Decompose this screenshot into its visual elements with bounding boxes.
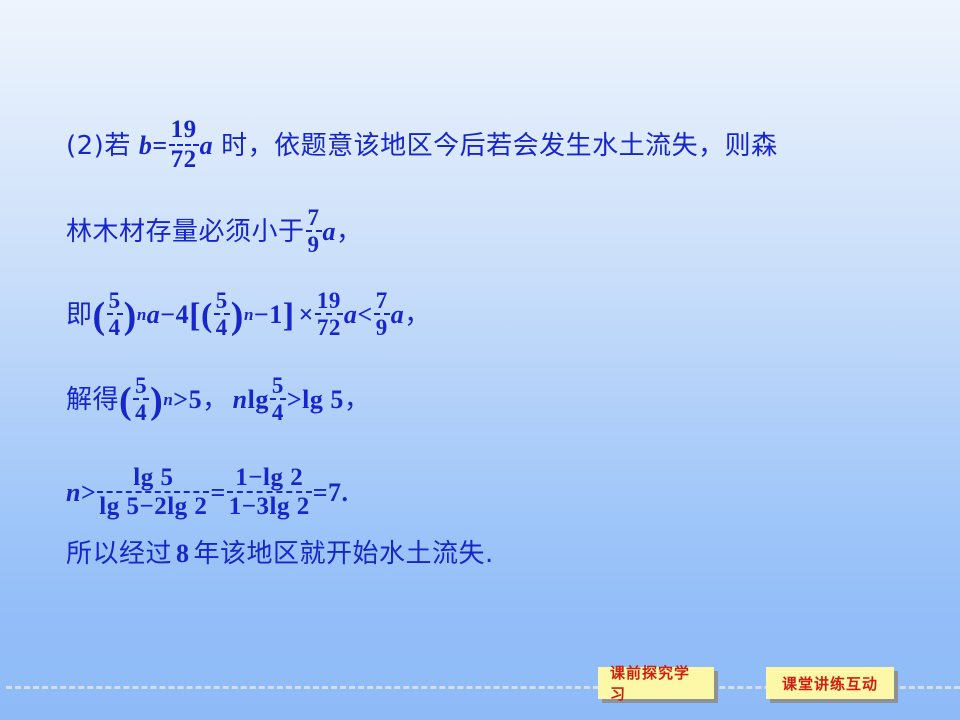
fraction-numerator: 7: [374, 289, 390, 312]
line4-open-paren: (: [119, 390, 132, 413]
fraction-19-over-72: 19 72: [169, 117, 199, 172]
line5-variable-n: n: [66, 480, 81, 506]
nav-button-pre-class-study[interactable]: 课前探究学习: [598, 667, 714, 699]
fraction-denominator: 9: [374, 316, 390, 339]
line5-equals-1: =: [210, 480, 225, 506]
solution-line-1: (2)若 b = 19 72 a 时，依题意该地区今后若会发生水土流失，则森: [66, 118, 926, 173]
line3-lead-text: 即: [66, 302, 93, 328]
fraction-denominator: 4: [107, 316, 123, 339]
line3-bracket-close: ]: [283, 306, 295, 326]
line4-close-paren: ): [150, 390, 163, 413]
fraction-numerator: 19: [315, 289, 343, 312]
fraction-19-over-72-b: 19 72: [315, 289, 343, 340]
line3-coefficient-4: 4: [176, 302, 190, 328]
fraction-numerator: 7: [306, 206, 322, 229]
fraction-denominator: 9: [306, 233, 322, 256]
line1-variable-b: b: [139, 133, 153, 159]
fraction-5-over-4-b: 5 4: [214, 289, 230, 340]
line1-equals: =: [152, 133, 167, 159]
line3-variable-a-1: a: [147, 302, 161, 328]
line5-result-value: 7.: [328, 480, 349, 506]
fraction-numerator: 5: [133, 374, 149, 397]
solution-line-3: 即 ( 5 4 ) n a − 4 [( 5 4 ) n − 1 ] ×: [66, 290, 926, 341]
fraction-numerator: 1−lg 2: [233, 465, 305, 491]
line4-comma-1: ，: [202, 387, 229, 413]
line1-label: (2)若: [66, 133, 131, 159]
line1-tail-text: 时，依题意该地区今后若会发生水土流失，则森: [221, 133, 778, 159]
fraction-numerator: 5: [107, 289, 123, 312]
line2-lead-text: 林木材存量必须小于: [66, 219, 305, 245]
solution-line-2: 林木材存量必须小于 7 9 a ，: [66, 207, 926, 258]
solution-line-6-conclusion: 所以经过 8 年该地区就开始水土流失.: [66, 541, 926, 567]
conclusion-years-value: 8: [176, 541, 190, 567]
line3-variable-a-3: a: [391, 302, 405, 328]
fraction-5-over-4-c: 5 4: [133, 374, 149, 425]
fraction-5-over-4-a: 5 4: [107, 289, 123, 340]
fraction-1-minus-lg2-over-1-minus-3lg2: 1−lg 2 1−3lg 2: [227, 465, 312, 520]
line2-comma: ，: [336, 219, 363, 245]
slide-canvas: (2)若 b = 19 72 a 时，依题意该地区今后若会发生水土流失，则森 林…: [0, 0, 960, 720]
line3-close-paren-2: ): [231, 305, 244, 328]
line5-greater-than: >: [81, 480, 96, 506]
line4-lg-five: lg 5: [302, 387, 344, 413]
line3-variable-a-2: a: [344, 302, 358, 328]
line3-less-than: <: [357, 302, 372, 328]
line4-comma-2: ，: [344, 387, 371, 413]
line2-variable-a: a: [323, 219, 337, 245]
line4-lg-operator: lg: [248, 387, 269, 413]
line1-variable-a: a: [200, 133, 214, 159]
fraction-numerator: lg 5: [131, 465, 175, 491]
line3-one: 1: [269, 302, 283, 328]
fraction-numerator: 5: [270, 374, 286, 397]
line4-greater-than-1: >: [173, 387, 188, 413]
solution-line-5: n > lg 5 lg 5−2lg 2 = 1−lg 2 1−3lg 2 = 7…: [66, 466, 926, 521]
fraction-denominator: 4: [270, 401, 286, 424]
footer-nav-bar: 课前探究学习 课堂讲练互动: [0, 662, 960, 720]
line3-times-sign: ×: [299, 302, 314, 328]
fraction-numerator: 5: [214, 289, 230, 312]
solution-body: (2)若 b = 19 72 a 时，依题意该地区今后若会发生水土流失，则森 林…: [66, 118, 926, 567]
line4-greater-than-2: >: [287, 387, 302, 413]
solution-line-4: 解得 ( 5 4 ) n > 5 ， n lg 5 4 > lg 5 ，: [66, 375, 926, 426]
nav-button-classroom-practice[interactable]: 课堂讲练互动: [766, 667, 894, 699]
fraction-denominator: 1−3lg 2: [227, 494, 312, 520]
line3-comma: ，: [404, 302, 431, 328]
conclusion-suffix: 年该地区就开始水土流失.: [194, 541, 494, 567]
line4-five: 5: [189, 387, 203, 413]
fraction-5-over-4-d: 5 4: [270, 374, 286, 425]
fraction-denominator: lg 5−2lg 2: [97, 494, 209, 520]
line5-equals-2: =: [313, 480, 328, 506]
conclusion-prefix: 所以经过: [66, 541, 172, 567]
fraction-lg5-over-lg5-minus-2lg2: lg 5 lg 5−2lg 2: [97, 465, 209, 520]
line3-minus-1: −: [160, 302, 175, 328]
line4-variable-n: n: [233, 387, 248, 413]
fraction-7-over-9-b: 7 9: [374, 289, 390, 340]
fraction-denominator: 4: [214, 316, 230, 339]
fraction-denominator: 72: [315, 316, 343, 339]
fraction-denominator: 72: [169, 147, 199, 173]
fraction-numerator: 19: [169, 117, 199, 143]
line4-lead-text: 解得: [66, 387, 119, 413]
line3-minus-2: −: [254, 302, 269, 328]
fraction-denominator: 4: [133, 401, 149, 424]
line3-open-paren-1: (: [93, 305, 106, 328]
line3-close-paren-1: ): [124, 305, 137, 328]
fraction-7-over-9: 7 9: [306, 206, 322, 257]
line3-bracket-open: [(: [189, 306, 213, 326]
